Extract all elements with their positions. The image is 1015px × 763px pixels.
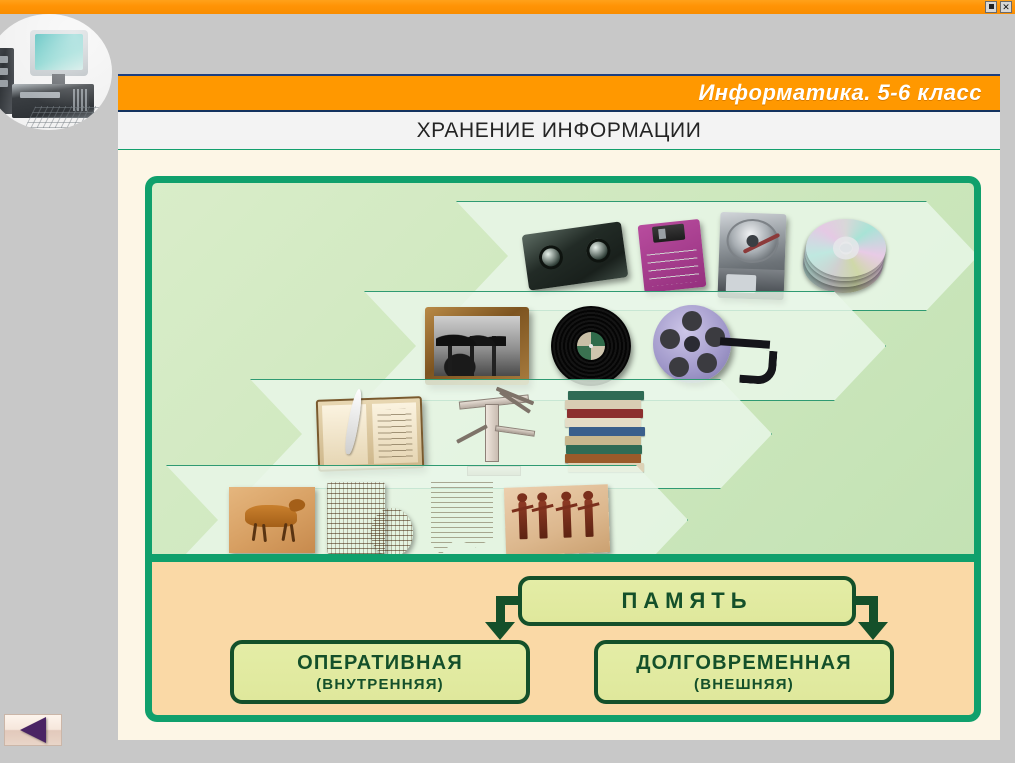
slide-header-bar: Информатика. 5-6 класс bbox=[118, 74, 1000, 112]
memory-ram-title: ОПЕРАТИВНАЯ bbox=[297, 652, 463, 675]
minimize-icon bbox=[989, 4, 994, 9]
memory-root-label: ПАМЯТЬ bbox=[621, 588, 752, 614]
close-button[interactable]: ✕ bbox=[1000, 1, 1012, 13]
memory-ram-box: ОПЕРАТИВНАЯ (ВНУТРЕННЯЯ) bbox=[230, 640, 530, 704]
badge-gloss bbox=[0, 14, 112, 130]
cd-stack-icon bbox=[801, 219, 887, 293]
minimize-button[interactable] bbox=[985, 1, 997, 13]
back-arrow-icon bbox=[20, 717, 46, 743]
clay-tablets-icon bbox=[327, 482, 419, 558]
film-reel-icon bbox=[653, 305, 769, 387]
slide-subtitle-bar: ХРАНЕНИЕ ИНФОРМАЦИИ bbox=[118, 112, 1000, 150]
slide-panel: Информатика. 5-6 класс ХРАНЕНИЕ ИНФОРМАЦ… bbox=[118, 74, 1000, 740]
memory-storage-subtitle: (ВНЕШНЯЯ) bbox=[694, 676, 794, 693]
cave-painting-icon bbox=[229, 487, 315, 553]
timeline-row-ancient bbox=[166, 465, 688, 558]
arrowhead-right-icon bbox=[858, 622, 888, 640]
memory-diagram: ПАМЯТЬ ОПЕРАТИВНАЯ (ВНУТРЕННЯЯ) ДОЛГОВРЕ… bbox=[145, 558, 981, 722]
computer-photo-badge bbox=[0, 14, 112, 130]
memory-ram-subtitle: (ВНУТРЕННЯЯ) bbox=[316, 676, 444, 693]
back-button[interactable] bbox=[4, 714, 62, 746]
course-title: Информатика. 5-6 класс bbox=[698, 80, 1000, 106]
window-titlebar: ✕ bbox=[0, 0, 1015, 14]
handwritten-manuscript-icon bbox=[316, 396, 424, 472]
page-title: ХРАНЕНИЕ ИНФОРМАЦИИ bbox=[417, 119, 702, 143]
printing-press-icon bbox=[451, 392, 537, 476]
book-stack-icon bbox=[565, 391, 647, 477]
hard-disk-drive-icon bbox=[718, 212, 787, 300]
arrowhead-left-icon bbox=[485, 622, 515, 640]
vinyl-record-icon bbox=[551, 306, 631, 386]
storage-timeline bbox=[145, 176, 981, 558]
egyptian-papyrus-icon bbox=[504, 484, 610, 556]
memory-storage-title: ДОЛГОВРЕМЕННАЯ bbox=[636, 652, 852, 675]
floppy-disk-icon bbox=[638, 219, 707, 293]
memory-storage-box: ДОЛГОВРЕМЕННАЯ (ВНЕШНЯЯ) bbox=[594, 640, 894, 704]
vhs-cassette-icon bbox=[522, 221, 629, 290]
framed-photograph-icon bbox=[425, 307, 529, 385]
papyrus-fragment-icon bbox=[431, 482, 493, 558]
memory-root-box: ПАМЯТЬ bbox=[518, 576, 856, 626]
